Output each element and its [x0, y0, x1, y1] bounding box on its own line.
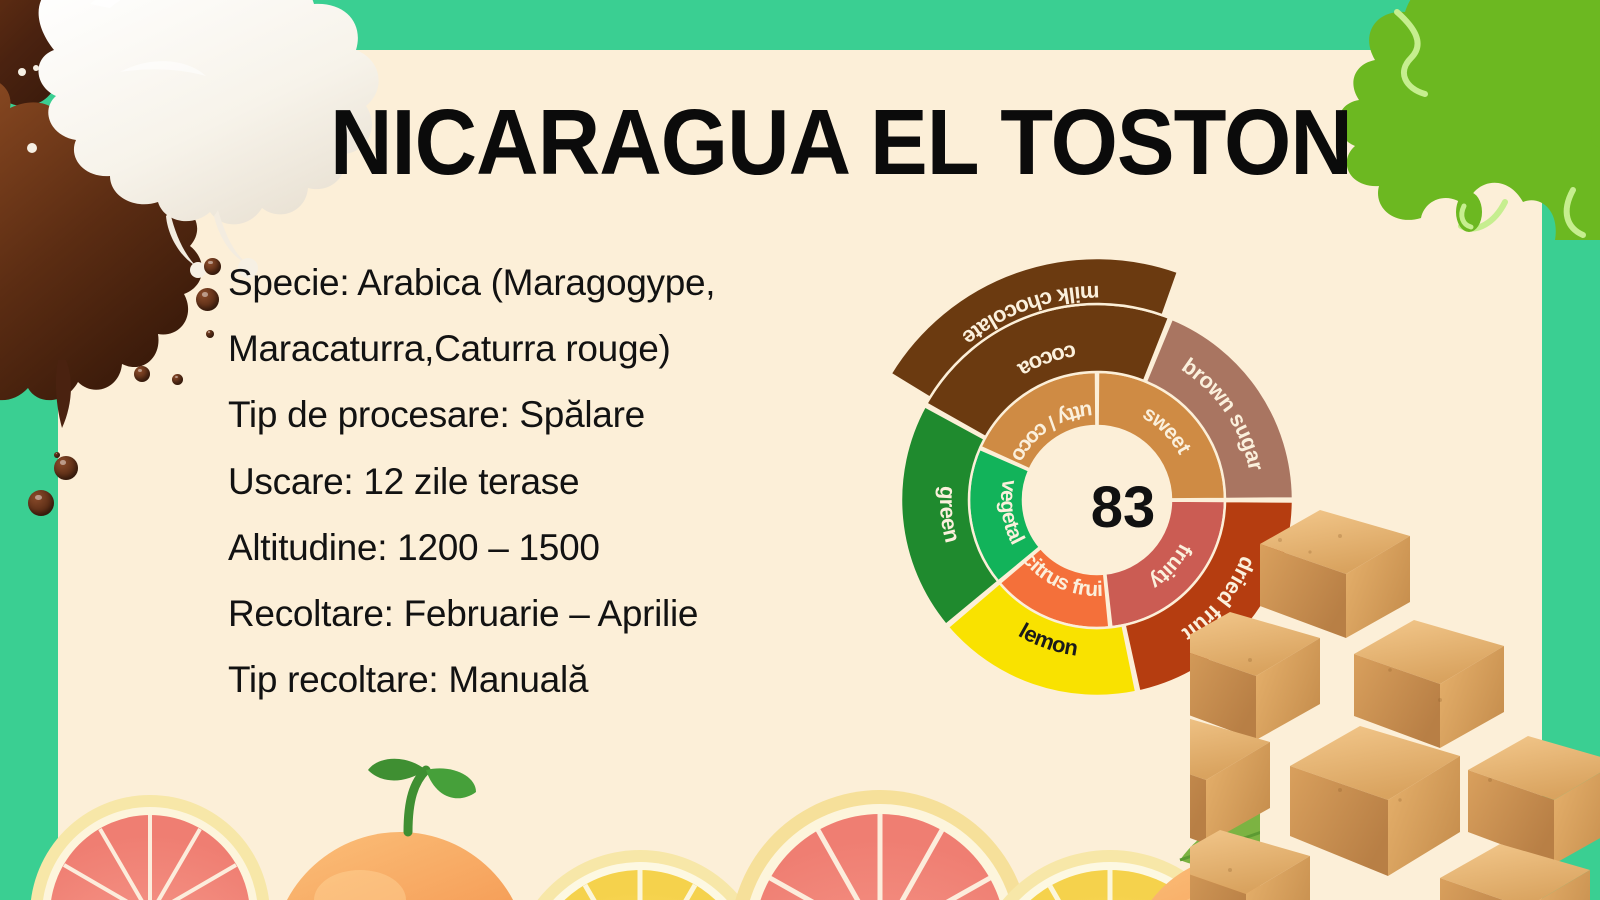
brown-sugar-cubes-decoration	[1190, 500, 1600, 900]
chocolate-drop-icon	[134, 366, 150, 382]
fact-line: Altitudine: 1200 – 1500	[228, 515, 868, 581]
fact-line: Tip de procesare: Spălare	[228, 382, 868, 448]
slide-canvas: NICARAGUA EL TOSTON Specie: Arabica (Mar…	[0, 0, 1600, 900]
fact-line: Tip recoltare: Manuală	[228, 647, 868, 713]
chocolate-drop-icon	[54, 456, 78, 480]
chocolate-drop-icon	[172, 374, 183, 385]
page-title: NICARAGUA EL TOSTON	[330, 96, 1223, 189]
fact-line: Maracaturra,Caturra rouge)	[228, 316, 868, 382]
wheel-center-hole	[1023, 426, 1171, 574]
chocolate-drop-icon	[54, 452, 60, 458]
fact-line: Uscare: 12 zile terase	[228, 449, 868, 515]
chocolate-drop-icon	[196, 288, 219, 311]
fact-line: Specie: Arabica (Maragogype,	[228, 250, 868, 316]
chocolate-drop-icon	[206, 330, 214, 338]
chocolate-drop-icon	[204, 258, 221, 275]
chocolate-drop-icon	[28, 490, 54, 516]
fact-line: Recoltare: Februarie – Aprilie	[228, 581, 868, 647]
citrus-fruit-decoration	[0, 710, 1260, 900]
coffee-facts-list: Specie: Arabica (Maragogype, Maracaturra…	[228, 250, 868, 714]
